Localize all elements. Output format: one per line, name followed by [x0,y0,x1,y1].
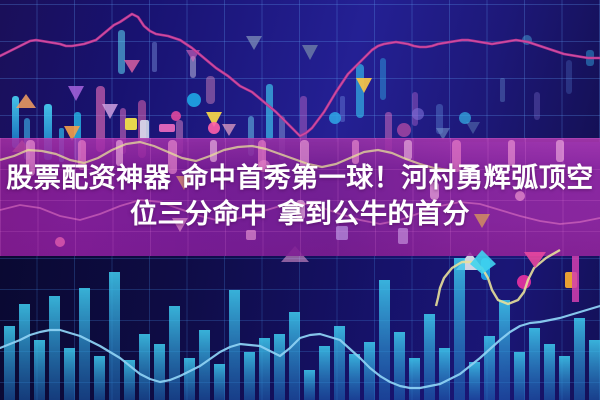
stock-banner-image: 股票配资神器 命中首秀第一球！河村勇辉弧顶空 位三分命中 拿到公牛的首分 [0,0,600,400]
headline-block: 股票配资神器 命中首秀第一球！河村勇辉弧顶空 位三分命中 拿到公牛的首分 [0,138,600,256]
headline-line-2: 位三分命中 拿到公牛的首分 [130,200,470,230]
headline-line-1: 股票配资神器 命中首秀第一球！河村勇辉弧顶空 [6,164,593,194]
